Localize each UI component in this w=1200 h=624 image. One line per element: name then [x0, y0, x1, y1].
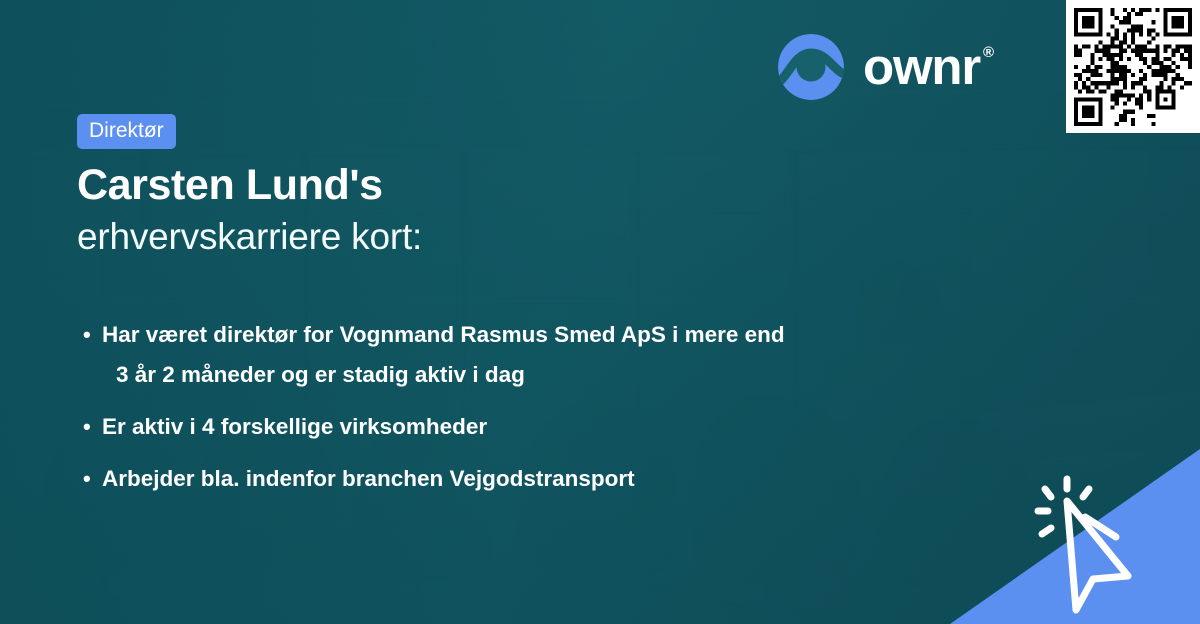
qr-code[interactable]	[1066, 0, 1200, 133]
ownr-logo[interactable]: ownr ®	[777, 33, 993, 101]
list-item: • Arbejder bla. indenfor branchen Vejgod…	[77, 459, 957, 499]
ownr-circle-swoosh-icon	[777, 33, 845, 101]
wordmark-text: ownr	[863, 41, 980, 93]
bullet-icon: •	[83, 407, 91, 447]
list-item: • Er aktiv i 4 forskellige virksomheder	[77, 407, 957, 447]
corner-accent	[950, 449, 1200, 624]
list-item-line2: 3 år 2 måneder og er stadig aktiv i dag	[102, 355, 957, 395]
bullet-icon: •	[83, 459, 91, 499]
list-item-line1: Arbejder bla. indenfor branchen Vejgodst…	[102, 466, 635, 491]
page-title: Carsten Lund's	[77, 160, 383, 210]
list-item-line1: Er aktiv i 4 forskellige virksomheder	[102, 414, 487, 439]
career-facts-list: • Har været direktør for Vognmand Rasmus…	[77, 315, 957, 511]
qr-code-image	[1074, 8, 1192, 126]
page-subtitle: erhvervskarriere kort:	[77, 213, 422, 261]
corner-triangle-icon	[950, 449, 1200, 624]
list-item-line1: Har været direktør for Vognmand Rasmus S…	[102, 322, 785, 347]
registered-trademark-icon: ®	[983, 43, 993, 63]
bullet-icon: •	[83, 315, 91, 355]
ownr-wordmark: ownr ®	[863, 41, 993, 93]
business-career-card: ownr ® Direktør Carsten Lund's erhvervsk…	[0, 0, 1200, 624]
role-badge: Direktør	[77, 114, 176, 149]
list-item: • Har været direktør for Vognmand Rasmus…	[77, 315, 957, 395]
